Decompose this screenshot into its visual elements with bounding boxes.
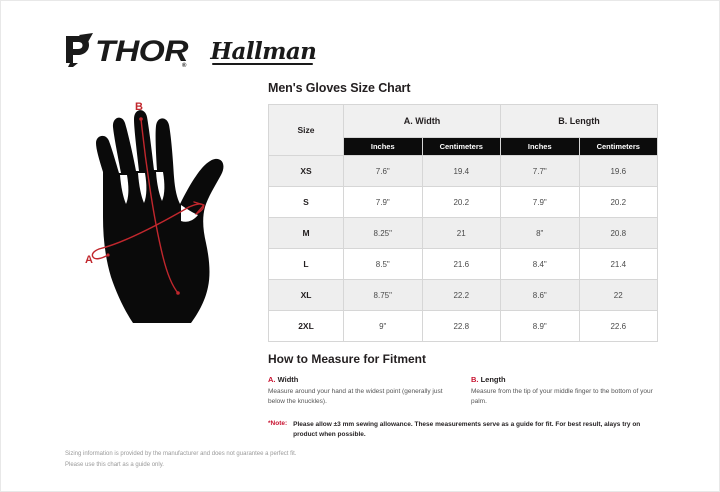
footer-line-2: Please use this chart as a guide only. [65,460,405,471]
column-header-width-inches: Inches [344,137,423,155]
measure-length-block: B. Length Measure from the tip of your m… [471,375,658,407]
measure-width-heading: A. Width [268,375,455,384]
brand-header: THOR ® Hallman [64,31,316,73]
table-row: M 8.25" 21 8" 20.8 [269,218,658,249]
size-table: Size A. Width B. Length Inches Centimete… [268,104,658,342]
measure-length-heading: B. Length [471,375,658,384]
cell-size: L [269,249,344,280]
column-header-length-inches: Inches [501,137,580,155]
cell-width-inches: 8.5" [344,249,423,280]
measure-length-name: Length [481,375,506,384]
measure-width-text: Measure around your hand at the widest p… [268,387,455,407]
cell-length-inches: 7.9" [501,187,580,218]
note-section: *Note: Please allow ±3 mm sewing allowan… [268,420,658,441]
thor-wordmark: THOR [95,37,188,67]
thor-helmet-mark-icon [64,33,94,72]
how-to-measure-section: How to Measure for Fitment A. Width Meas… [268,352,658,407]
cell-length-inches: 8.6" [501,280,580,311]
cell-width-inches: 9" [344,311,423,342]
cell-width-centimeters: 21.6 [422,249,501,280]
size-chart-panel: Men's Gloves Size Chart Size A. Width B.… [268,81,658,342]
hallman-wordmark: Hallman [210,38,316,65]
cell-length-centimeters: 22.6 [579,311,658,342]
cell-width-centimeters: 22.2 [422,280,501,311]
column-header-size: Size [269,105,344,156]
measure-length-text: Measure from the tip of your middle fing… [471,387,658,407]
measure-length-letter: B. [471,375,479,384]
measure-width-letter: A. [268,375,276,384]
cell-length-inches: 8.4" [501,249,580,280]
table-row: S 7.9" 20.2 7.9" 20.2 [269,187,658,218]
cell-width-inches: 8.25" [344,218,423,249]
measure-width-name: Width [278,375,299,384]
diagram-label-a: A [85,254,93,266]
table-row: XL 8.75" 22.2 8.6" 22 [269,280,658,311]
hand-measurement-diagram: B A [63,97,263,329]
column-header-width-centimeters: Centimeters [422,137,501,155]
hallman-logo: Hallman [210,40,316,64]
note-text: Please allow ±3 mm sewing allowance. The… [293,420,658,441]
cell-width-centimeters: 19.4 [422,156,501,187]
cell-width-centimeters: 20.2 [422,187,501,218]
cell-width-centimeters: 22.8 [422,311,501,342]
cell-width-centimeters: 21 [422,218,501,249]
hallman-swash-underline [212,63,313,65]
cell-size: 2XL [269,311,344,342]
table-header-row-groups: Size A. Width B. Length [269,105,658,138]
thor-logo: THOR ® [64,33,186,72]
column-group-width: A. Width [344,105,501,138]
hand-silhouette-icon [96,110,223,323]
table-row: XS 7.6" 19.4 7.7" 19.6 [269,156,658,187]
cell-size: M [269,218,344,249]
cell-length-inches: 8.9" [501,311,580,342]
cell-size: XS [269,156,344,187]
size-table-head: Size A. Width B. Length Inches Centimete… [269,105,658,156]
cell-length-centimeters: 20.8 [579,218,658,249]
size-table-body: XS 7.6" 19.4 7.7" 19.6 S 7.9" 20.2 7.9" … [269,156,658,342]
measure-width-block: A. Width Measure around your hand at the… [268,375,455,407]
cell-width-inches: 7.6" [344,156,423,187]
cell-width-inches: 7.9" [344,187,423,218]
table-row: 2XL 9" 22.8 8.9" 22.6 [269,311,658,342]
cell-size: S [269,187,344,218]
size-chart-page: THOR ® Hallman [0,0,720,492]
column-header-length-centimeters: Centimeters [579,137,658,155]
footer-disclaimer: Sizing information is provided by the ma… [65,449,405,470]
cell-width-inches: 8.75" [344,280,423,311]
note-label: *Note: [268,420,287,427]
column-group-length: B. Length [501,105,658,138]
cell-length-centimeters: 21.4 [579,249,658,280]
cell-length-centimeters: 20.2 [579,187,658,218]
cell-length-inches: 7.7" [501,156,580,187]
how-to-measure-title: How to Measure for Fitment [268,352,658,366]
cell-size: XL [269,280,344,311]
measure-instructions: A. Width Measure around your hand at the… [268,375,658,407]
diagram-label-b: B [135,101,143,113]
page-title: Men's Gloves Size Chart [268,81,658,95]
cell-length-inches: 8" [501,218,580,249]
cell-length-centimeters: 22 [579,280,658,311]
table-row: L 8.5" 21.6 8.4" 21.4 [269,249,658,280]
cell-length-centimeters: 19.6 [579,156,658,187]
footer-line-1: Sizing information is provided by the ma… [65,449,405,460]
